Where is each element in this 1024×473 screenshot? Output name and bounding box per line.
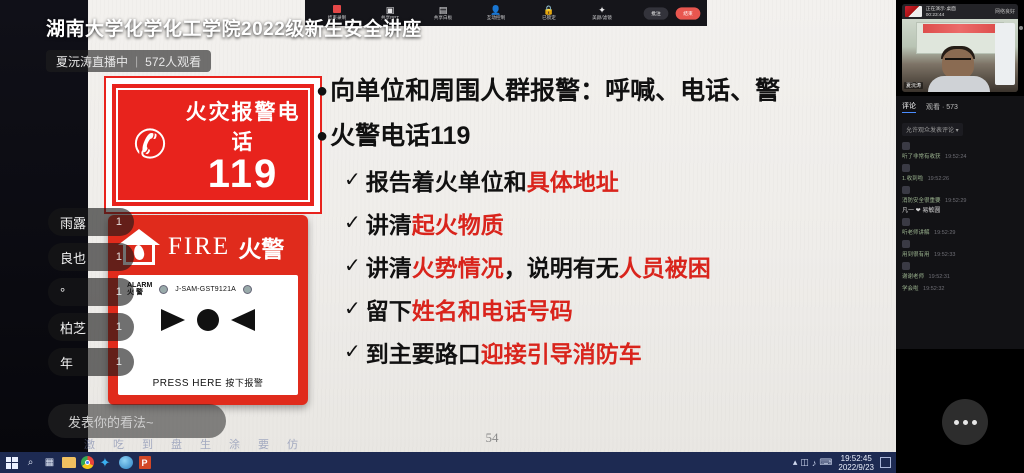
message-author: 用到很有用: [902, 252, 930, 258]
shared-screen-region: ✆ 火灾报警电话 119 FIRE 火警: [0, 0, 896, 473]
taskbar-clock[interactable]: 19:52:45 2022/9/23: [835, 454, 877, 472]
record-icon: [311, 5, 363, 15]
list-item: 1.收到啦 19:52:26: [902, 164, 1018, 182]
internet-explorer-icon[interactable]: [117, 454, 134, 471]
check-text-highlight: 姓名和电话号码: [412, 298, 573, 325]
desktop-icon-labels: 激吃到盘生涂要仿: [84, 436, 298, 452]
led-indicator-icon: [243, 285, 252, 294]
manual-call-point-image: FIRE 火警 ALARM 火 警 J-SAM-GST9121A: [108, 215, 308, 405]
check-text-highlight: 起火物质: [412, 212, 504, 239]
dot-icon: [1019, 26, 1023, 30]
check-text-plain: 讲清: [366, 212, 412, 239]
dot-icon: [963, 420, 968, 425]
phone-icon: ✆: [122, 125, 178, 165]
check-text-plain: 留下: [366, 298, 412, 325]
check-text-highlight: 具体地址: [527, 169, 619, 196]
arrow-left-icon: [231, 309, 255, 331]
presenter-camera-feed: 夏沅涛: [902, 19, 1018, 92]
avatar: [902, 142, 910, 150]
live-status-badge: 夏沅涛直播中 | 572人观看: [46, 50, 211, 72]
bullet-text: 火警电话119: [330, 121, 470, 152]
clock-time: 19:52:45: [838, 454, 874, 463]
check-icon: ✓: [344, 341, 361, 365]
whiteboard-icon: ▤: [417, 5, 469, 15]
bullet-marker: ●: [316, 121, 328, 151]
file-explorer-icon[interactable]: [60, 454, 77, 471]
checklist: ✓ 报告着火单位和 具体地址 ✓ 讲清 起火物质 ✓ 讲清 火势情况 ，说明有无: [344, 169, 890, 369]
arrow-right-icon: [161, 309, 185, 331]
presenter-glasses: [945, 58, 971, 66]
check-text-highlight: 迎接引导消防车: [481, 341, 642, 368]
message-author: 学会啦: [902, 286, 919, 292]
led-indicator-icon: [159, 285, 168, 294]
list-item[interactable]: 年 1: [48, 348, 134, 376]
press-dot-icon: [197, 309, 219, 331]
presenter-video-tile[interactable]: 正在演示·桌面 00:23:44 网络良好 夏沅涛: [902, 4, 1018, 92]
bullet-item: ● 向单位和周围人群报警：呼喊、电话、警: [316, 76, 890, 107]
press-here-cn: 按下报警: [225, 378, 263, 388]
bullet-item: ● 火警电话119: [316, 121, 890, 152]
tray-ime-icon[interactable]: ⌨: [819, 457, 832, 468]
sign-number: 119: [178, 154, 308, 194]
tab-viewers[interactable]: 观看 · 573: [926, 102, 958, 112]
list-item[interactable]: ° 1: [48, 278, 134, 306]
toolbar-item-beauty[interactable]: ✦ 美颜/滤镜: [576, 5, 628, 22]
fire-brand-en: FIRE: [168, 233, 230, 261]
message-time: 19:52:31: [929, 274, 950, 280]
cabinet-object: [995, 23, 1015, 85]
chat-tabs[interactable]: 评论 观看 · 573: [902, 101, 1018, 113]
avatar: [902, 240, 910, 248]
fire-brand-cn: 火警: [238, 230, 284, 264]
bubble-name: 年: [60, 353, 73, 372]
network-status: 网络良好: [995, 8, 1015, 15]
message-author: 消防安全很重要: [902, 198, 941, 204]
end-meeting-button[interactable]: 结束: [676, 7, 701, 19]
list-item: 听了非常有收获 19:52:24: [902, 142, 1018, 160]
presenting-status: 正在演示·桌面: [926, 6, 956, 12]
page-title: 湖南大学化学化工学院2022级新生安全讲座: [46, 14, 422, 41]
chat-panel: 评论 观看 · 573 允许观众发表评论 ▾ 听了非常有收获 19:52:24 …: [896, 96, 1024, 349]
list-item: 用到很有用 19:52:33: [902, 240, 1018, 258]
check-text-plain: 讲清: [366, 255, 412, 282]
toolbar-item-interaction[interactable]: 👤 互动控制: [470, 5, 522, 22]
check-text-highlight-2: 人员被困: [619, 255, 711, 282]
toolbar-item-lock[interactable]: 🔒 已锁定: [523, 5, 575, 22]
dot-icon: [954, 420, 959, 425]
message-text: 凡一 ❤ 易敏圆: [902, 205, 1018, 214]
document-icon: ▣: [364, 5, 416, 15]
bubble-name: 柏芝: [60, 318, 86, 337]
checklist-item: ✓ 讲清 起火物质: [344, 212, 890, 239]
magic-icon: ✦: [576, 5, 628, 15]
list-item[interactable]: 柏芝 1: [48, 313, 134, 341]
check-icon: ✓: [344, 169, 361, 193]
person-icon: 👤: [470, 5, 522, 15]
tray-overflow-icon[interactable]: ▴: [793, 457, 798, 468]
video-tile-header: 正在演示·桌面 00:23:44 网络良好: [902, 4, 1018, 19]
windows-start-icon[interactable]: [3, 454, 20, 471]
device-model: J-SAM-GST9121A: [175, 286, 236, 293]
list-item[interactable]: 良也 1: [48, 243, 134, 271]
presenter-shirt: [928, 76, 990, 92]
comment-permission-dropdown[interactable]: 允许观众发表评论 ▾: [902, 123, 963, 136]
avatar: [902, 218, 910, 226]
comment-input[interactable]: 发表你的看法~: [48, 404, 226, 438]
tab-comments[interactable]: 评论: [902, 101, 916, 113]
bubble-name: °: [60, 285, 65, 300]
sign-label: 火灾报警电话: [178, 96, 308, 156]
toolbar-label: 已锁定: [525, 15, 573, 21]
checklist-item: ✓ 报告着火单位和 具体地址: [344, 169, 890, 196]
more-options-button[interactable]: [942, 399, 988, 445]
comment-input-placeholder: 发表你的看法~: [68, 412, 154, 431]
bubble-name: 雨露: [60, 213, 86, 232]
bullet-marker: ●: [316, 76, 328, 106]
list-item: 消防安全很重要 19:52:29 凡一 ❤ 易敏圆: [902, 186, 1018, 214]
message-author: 听了非常有收获: [902, 154, 941, 160]
bubble-count: 1: [116, 251, 122, 263]
check-text-plain: 报告着火单位和: [366, 169, 527, 196]
check-icon: ✓: [344, 255, 361, 279]
checklist-item: ✓ 讲清 火势情况 ，说明有无 人员被困: [344, 255, 890, 282]
bubble-name: 良也: [60, 248, 86, 267]
show-desktop-button[interactable]: [880, 457, 891, 468]
screen-thumbnail-icon: [905, 6, 922, 17]
list-item: 学会啦 19:52:32: [902, 284, 1018, 292]
host-status: 夏沅涛直播中: [56, 53, 128, 70]
message-time: 19:52:24: [945, 154, 966, 160]
floating-comment-list: 雨露 1 良也 1 ° 1 柏芝 1 年 1: [48, 208, 134, 383]
message-author: 听老师讲解: [902, 230, 930, 236]
list-item: 听老师讲解 19:52:29: [902, 218, 1018, 236]
message-time: 19:52:26: [928, 176, 949, 182]
bullet-text: 向单位和周围人群报警：呼喊、电话、警: [330, 76, 780, 107]
check-icon: ✓: [344, 212, 361, 236]
screen: ✆ 火灾报警电话 119 FIRE 火警: [0, 0, 1024, 473]
bubble-count: 1: [116, 216, 122, 228]
viewer-count: 572人观看: [145, 53, 201, 70]
badge-separator: |: [135, 54, 138, 68]
checklist-item: ✓ 留下 姓名和电话号码: [344, 298, 890, 325]
check-icon: ✓: [344, 298, 361, 322]
list-item: 谢谢老师 19:52:31: [902, 262, 1018, 280]
chrome-icon[interactable]: [79, 454, 96, 471]
fire-alarm-119-sign: ✆ 火灾报警电话 119: [106, 78, 320, 212]
task-view-icon[interactable]: ▦: [41, 454, 58, 471]
toolbar-label: 共享白板: [419, 15, 467, 21]
presenter-name-tag: 夏沅涛: [904, 82, 923, 89]
checklist-item: ✓ 到主要路口 迎接引导消防车: [344, 341, 890, 368]
banner-text-strip: [923, 24, 997, 33]
message-time: 19:52:33: [934, 252, 955, 258]
check-text-plain: 到主要路口: [366, 341, 481, 368]
avatar: [902, 164, 910, 172]
slide-body: ● 向单位和周围人群报警：呼喊、电话、警 ● 火警电话119 ✓ 报告着火单位和…: [316, 76, 890, 384]
check-text-highlight: 火势情况: [412, 255, 504, 282]
message-time: 19:52:29: [934, 230, 955, 236]
toolbar-item-whiteboard[interactable]: ▤ 共享白板: [417, 5, 469, 22]
toolbar-label: 美颜/滤镜: [578, 15, 626, 21]
press-here-en: PRESS HERE: [153, 378, 222, 389]
presenting-timer: 00:23:44: [926, 12, 956, 18]
message-author: 谢谢老师: [902, 274, 924, 280]
avatar: [902, 262, 910, 270]
message-time: 19:52:29: [945, 198, 966, 204]
bubble-count: 1: [116, 321, 122, 333]
powerpoint-icon[interactable]: P: [136, 454, 153, 471]
wechat-icon[interactable]: ✦: [98, 454, 115, 471]
avatar: [902, 186, 910, 194]
annotate-button[interactable]: 批注: [644, 7, 669, 19]
message-time: 19:52:32: [923, 286, 944, 292]
list-item[interactable]: 雨露 1: [48, 208, 134, 236]
bubble-count: 1: [116, 286, 122, 298]
dot-icon: [972, 420, 977, 425]
bubble-count: 1: [116, 356, 122, 368]
message-author: 1.收到啦: [902, 176, 923, 182]
tray-network-icon[interactable]: ◫: [800, 457, 809, 468]
tray-volume-icon[interactable]: ♪: [812, 458, 817, 468]
clock-date: 2022/9/23: [838, 463, 874, 472]
toolbar-label: 互动控制: [472, 15, 520, 21]
search-icon[interactable]: ⌕: [22, 454, 39, 471]
check-text-tail: ，说明有无: [504, 255, 619, 282]
lock-icon: 🔒: [523, 5, 575, 15]
windows-taskbar[interactable]: ⌕ ▦ ✦ P ▴ ◫ ♪ ⌨ 19:52:45 2022/9/23: [0, 452, 896, 473]
